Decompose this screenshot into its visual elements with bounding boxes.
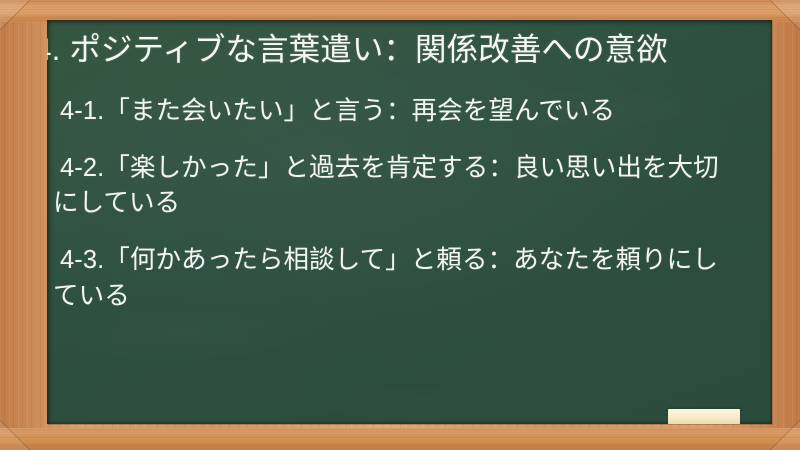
chalkboard-surface: 4. ポジティブな言葉遣い：関係改善への意欲 4-1.「また会いたい」と言う：再… [47,20,772,424]
list-item: 4-3.「何かあったら相談して」と頼る：あなたを頼りにしている [53,243,720,314]
list-item: 4-1.「また会いたい」と言う：再会を望んでいる [53,94,720,130]
frame-corner-top-right [770,0,800,30]
board-content: 4. ポジティブな言葉遣い：関係改善への意欲 4-1.「また会いたい」と言う：再… [47,20,772,314]
chalk-stick-icon [668,409,740,424]
list-item: 4-2.「楽しかった」と過去を肯定する：良い思い出を大切にしている [53,151,720,222]
page-title: 4. ポジティブな言葉遣い：関係改善への意欲 [47,28,706,71]
frame-corner-bottom-left [0,420,30,450]
frame-rail-top [0,0,800,22]
frame-corner-bottom-right [770,420,800,450]
frame-corner-top-left [0,0,30,30]
frame-rail-bottom [0,428,800,450]
blackboard-frame: 4. ポジティブな言葉遣い：関係改善への意欲 4-1.「また会いたい」と言う：再… [0,0,800,450]
bullet-list: 4-1.「また会いたい」と言う：再会を望んでいる 4-2.「楽しかった」と過去を… [53,94,750,314]
